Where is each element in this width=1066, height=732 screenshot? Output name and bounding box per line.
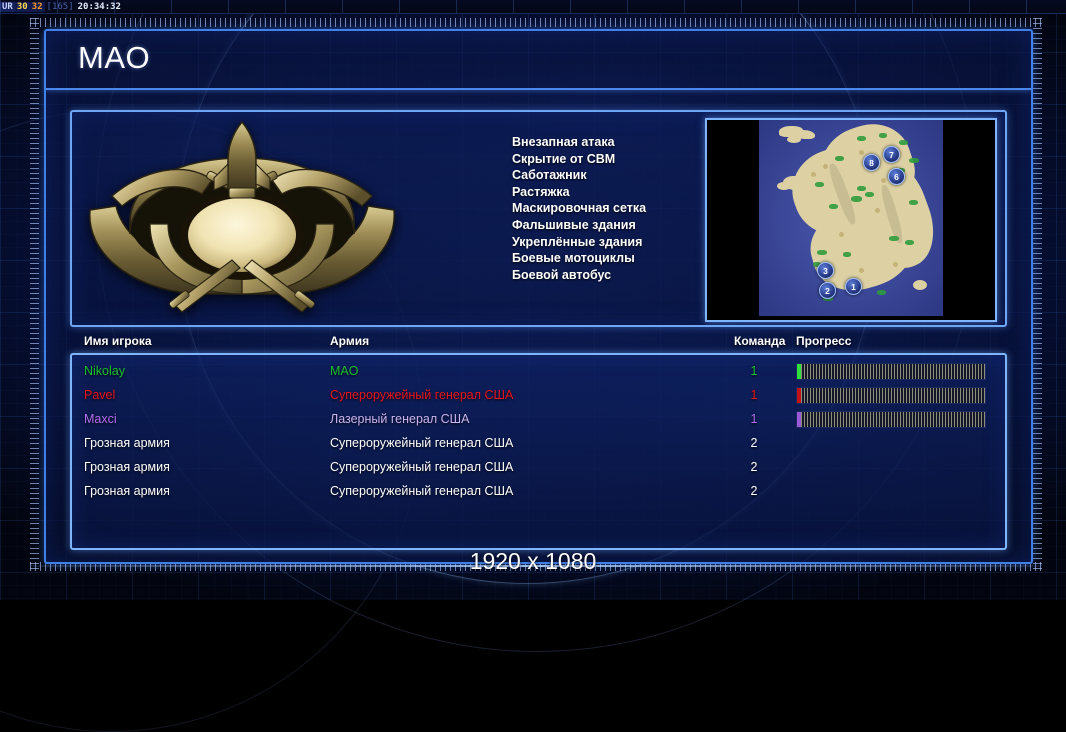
cell-army: MAO (330, 359, 358, 383)
cell-army: Супероружейный генерал США (330, 383, 513, 407)
cell-team: 1 (742, 359, 766, 383)
top-status-bar: UR 30 32 [165] 20:34:32 (0, 0, 1066, 14)
resolution-label: 1920 x 1080 (0, 548, 1066, 575)
cell-army: Супероружейный генерал США (330, 431, 513, 455)
cell-player-name: Грозная армия (84, 479, 170, 503)
map-start-position[interactable]: 7 (883, 146, 900, 163)
cell-player-name: Maxci (84, 407, 117, 431)
ruler-top (30, 18, 1042, 27)
table-row[interactable]: PavelСупероружейный генерал США1 (72, 383, 1005, 407)
progress-bar (796, 411, 986, 428)
table-row[interactable]: Грозная армияСупероружейный генерал США2 (72, 455, 1005, 479)
map-start-position[interactable]: 8 (863, 154, 880, 171)
cell-team: 1 (742, 383, 766, 407)
progress-bar-track (801, 412, 985, 427)
map-start-position[interactable]: 6 (888, 168, 905, 185)
loading-screen-panel: MAO (44, 29, 1033, 564)
header-team: Команда (734, 334, 785, 348)
progress-bar (796, 387, 986, 404)
ruler-right (1033, 18, 1042, 571)
table-row[interactable]: Грозная армияСупероружейный генерал США2 (72, 431, 1005, 455)
cell-team: 1 (742, 407, 766, 431)
cell-army: Супероружейный генерал США (330, 455, 513, 479)
cell-player-name: Грозная армия (84, 431, 170, 455)
map-preview: 8 7 6 3 2 1 (705, 118, 997, 322)
cell-team: 2 (742, 431, 766, 455)
map-start-position[interactable]: 3 (817, 262, 834, 279)
table-row[interactable]: Грозная армияСупероружейный генерал США2 (72, 479, 1005, 503)
map-start-position[interactable]: 1 (845, 278, 862, 295)
page-title: MAO (78, 40, 150, 76)
ruler-left (30, 18, 39, 571)
header-progress: Прогресс (796, 334, 851, 348)
map-letterbox: 8 7 6 3 2 1 (707, 120, 995, 320)
cell-army: Супероружейный генерал США (330, 479, 513, 503)
top-bar-ticks (0, 0, 1066, 13)
player-table-header: Имя игрока Армия Команда Прогресс (72, 334, 1002, 354)
faction-emblem-icon (82, 118, 402, 318)
cell-player-name: Nikolay (84, 359, 125, 383)
progress-bar-track (801, 388, 985, 403)
progress-bar-track (801, 364, 985, 379)
map-image: 8 7 6 3 2 1 (759, 120, 943, 316)
header-army: Армия (330, 334, 369, 348)
cell-player-name: Грозная армия (84, 455, 170, 479)
table-row[interactable]: MaxciЛазерный генерал США1 (72, 407, 1005, 431)
progress-bar (796, 363, 986, 380)
table-row[interactable]: NikolayMAO1 (72, 359, 1005, 383)
title-bar: MAO (46, 31, 1031, 90)
player-table: NikolayMAO1PavelСупероружейный генерал С… (70, 353, 1007, 550)
cell-army: Лазерный генерал США (330, 407, 469, 431)
cell-player-name: Pavel (84, 383, 115, 407)
header-player-name: Имя игрока (84, 334, 152, 348)
faction-info-box: Внезапная атака Скрытие от СВМ Саботажни… (70, 110, 1007, 327)
cell-team: 2 (742, 479, 766, 503)
cell-team: 2 (742, 455, 766, 479)
map-start-position[interactable]: 2 (819, 282, 836, 299)
